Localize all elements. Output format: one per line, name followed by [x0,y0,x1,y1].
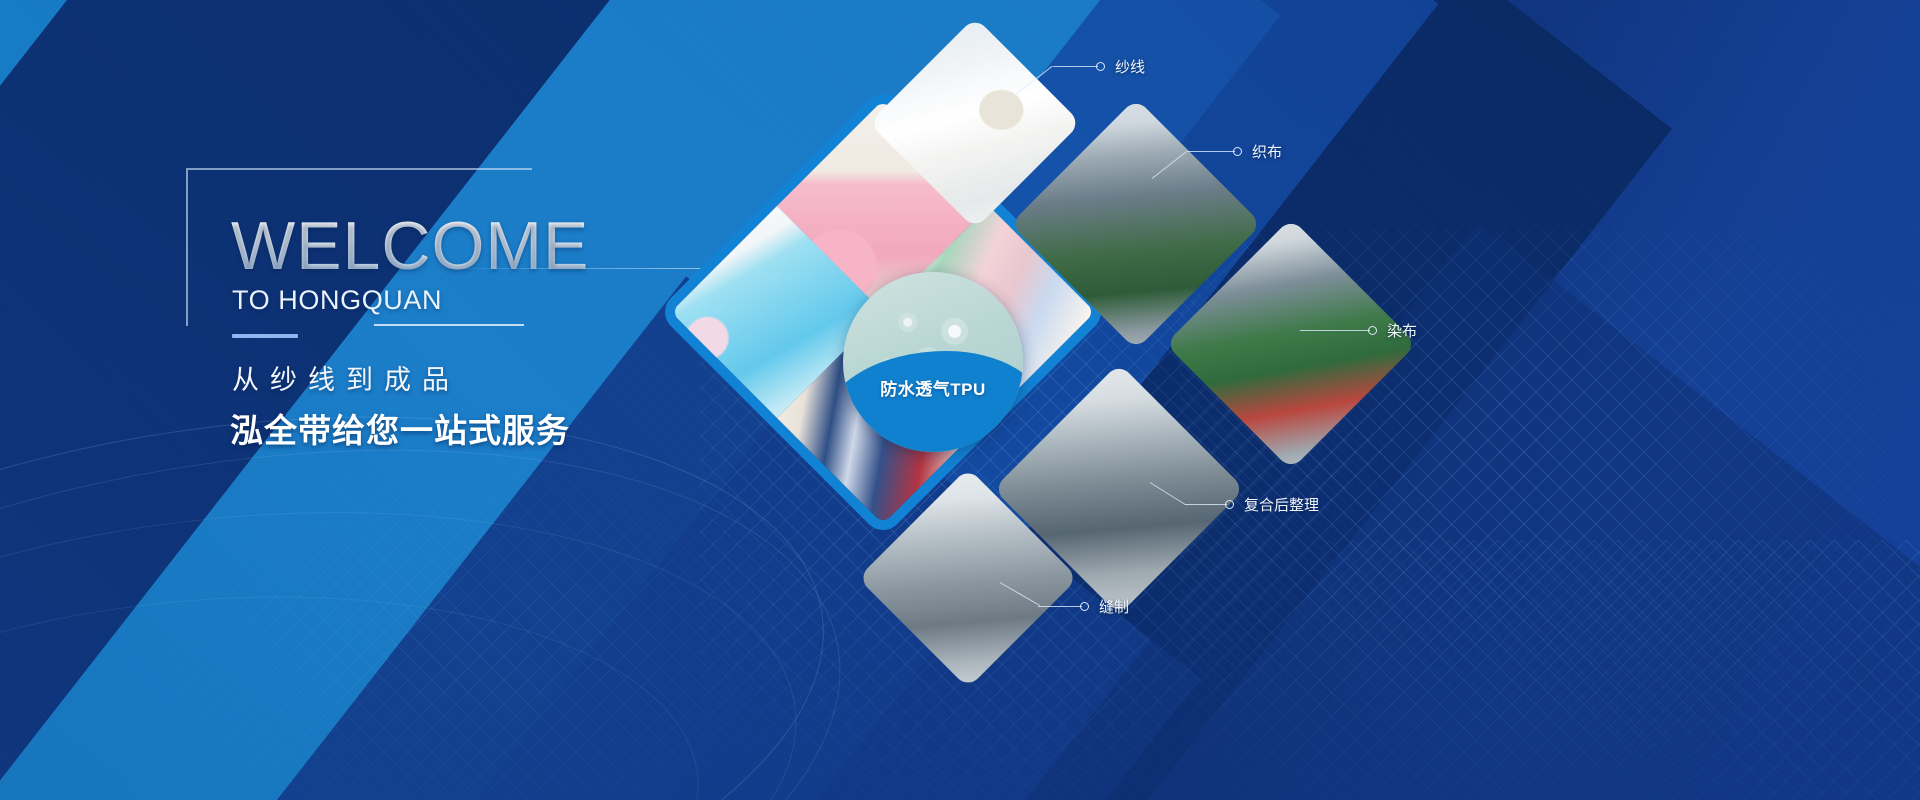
callout-dot-icon [1233,147,1242,156]
callout-label-finish: 复合后整理 [1244,494,1319,515]
callout-leader-line [1300,330,1370,331]
badge-wave-shape [843,351,1023,452]
callout-label-yarn: 纱线 [1115,56,1145,77]
tagline-chinese: 从纱线到成品 [232,358,460,397]
callout-leader-line [1038,606,1082,607]
company-subheading: TO HONGQUAN [232,285,442,316]
headline-chinese: 泓全带给您一站式服务 [230,404,570,452]
callout-label-weave: 织布 [1252,141,1282,162]
divider-short [232,334,298,338]
callout-dot-icon [1225,500,1234,509]
welcome-heading: WELCOME [231,212,589,280]
callout-leader-line [1187,151,1235,152]
divider-long [374,324,524,326]
callout-dot-icon [1096,62,1105,71]
hero-banner: WELCOME TO HONGQUAN 从纱线到成品 泓全带给您一站式服务 防水… [0,0,1920,800]
callout-dot-icon [1368,326,1377,335]
tpu-badge-label: 防水透气TPU [843,375,1023,400]
callout-label-dye: 染布 [1387,320,1417,341]
tpu-feature-badge[interactable]: 防水透气TPU [843,272,1023,452]
callout-leader-line [1053,66,1098,67]
callout-leader-line [1185,504,1227,505]
callout-dot-icon [1080,602,1089,611]
callout-label-sew: 缝制 [1099,596,1129,617]
